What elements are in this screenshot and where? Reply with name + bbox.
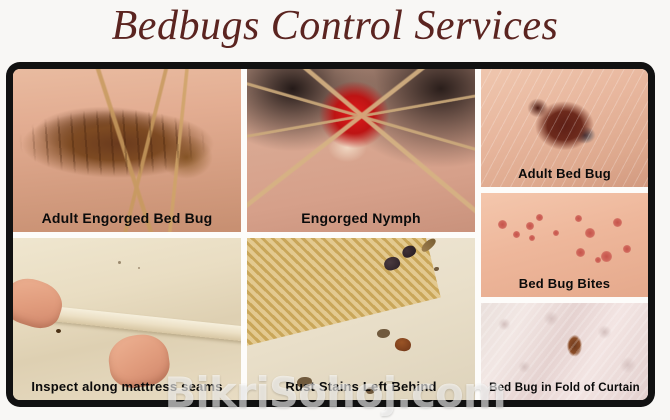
nymph-legs-decoration [247,69,475,232]
caption-rust-stains-left-behind: Rust Stains Left Behind [247,380,475,394]
collage-cell-adult-engorged-bed-bug[interactable]: Adult Engorged Bed Bug [13,69,241,232]
caption-adult-engorged-bed-bug: Adult Engorged Bed Bug [13,211,241,226]
collage-cell-adult-bed-bug[interactable]: Adult Bed Bug [481,69,648,187]
collage-cell-bed-bug-bites[interactable]: Bed Bug Bites [481,193,648,297]
bite-mark [613,218,622,227]
photo-adult-engorged-bed-bug [13,69,241,232]
collage-frame: Adult Engorged Bed Bug Engorged Nymph Ad… [6,62,655,407]
bed-bug-speck [56,329,61,333]
caption-adult-bed-bug: Adult Bed Bug [481,167,648,181]
bite-mark [526,222,534,230]
debris-speck [118,261,121,264]
bed-bug-legs-decoration [13,69,241,232]
photo-rust-stains-left-behind [247,238,475,400]
caption-engorged-nymph: Engorged Nymph [247,211,475,226]
debris-speck [138,267,140,269]
finger [13,272,68,334]
page-title: Bedbugs Control Services [0,2,670,50]
collage-cell-inspect-along-mattress-seams[interactable]: Inspect along mattress seams [13,238,241,400]
bite-mark [623,245,631,253]
collage-cell-rust-stains-left-behind[interactable]: Rust Stains Left Behind [247,238,475,400]
caption-bed-bug-bites: Bed Bug Bites [481,277,648,291]
bite-mark [553,230,559,236]
caption-inspect-along-mattress-seams: Inspect along mattress seams [13,380,241,394]
collage-grid: Adult Engorged Bed Bug Engorged Nymph Ad… [13,69,648,400]
bite-mark [576,248,585,257]
bite-mark [498,220,507,229]
photo-engorged-nymph [247,69,475,232]
collage-cell-engorged-nymph[interactable]: Engorged Nymph [247,69,475,232]
photo-inspect-along-mattress-seams [13,238,241,400]
bite-mark [585,228,595,238]
bite-mark [513,231,520,238]
rust-stain [434,267,439,271]
collage-cell-bed-bug-in-fold-of-curtain[interactable]: Bed Bug in Fold of Curtain [481,303,648,400]
bite-mark [601,251,612,262]
bedbugs-control-services-poster: Bedbugs Control Services Adult Engorged … [0,0,670,420]
rust-stain [377,329,390,338]
bite-mark [595,257,601,263]
bed-bug [394,337,412,352]
caption-bed-bug-in-fold-of-curtain: Bed Bug in Fold of Curtain [481,382,648,394]
bite-mark [575,215,582,222]
bite-mark [536,214,543,221]
bite-mark [529,235,535,241]
